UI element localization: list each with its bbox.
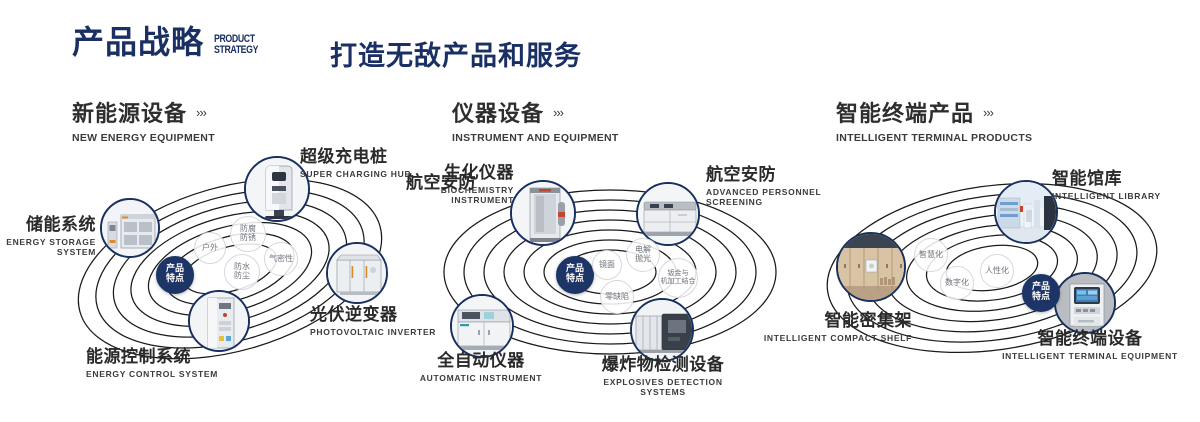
library-room-icon xyxy=(996,182,1056,242)
node-energy-control-system[interactable] xyxy=(188,290,250,352)
section-title-cn: 智能终端产品 xyxy=(836,96,974,128)
feature-bubble-humanized: 人性化 xyxy=(980,254,1014,288)
label-aviation-security-left: 航空安防 xyxy=(406,174,486,193)
section-title-en: INSTRUMENT AND EQUIPMENT xyxy=(452,132,619,144)
security-gate-icon xyxy=(512,182,574,244)
page-title-english: PRODUCT STRATEGY xyxy=(214,34,258,56)
label-explosives-detection-systems: 爆炸物检测设备 EXPLOSIVES DETECTION SYSTEMS xyxy=(580,356,746,398)
feature-label: 人性化 xyxy=(985,267,1009,276)
feature-label: 防腐 防锈 xyxy=(240,225,256,242)
feature-core-line2: 特点 xyxy=(166,275,184,285)
feature-label: 气密性 xyxy=(269,255,293,264)
node-advanced-personnel-screening[interactable] xyxy=(636,182,700,246)
feature-bubble-mirror: 镜面 xyxy=(592,250,622,280)
feature-core-bubble: 产品 特点 xyxy=(556,256,594,294)
node-automatic-instrument[interactable] xyxy=(450,294,514,358)
feature-label: 防水 防尘 xyxy=(234,263,250,280)
page-title-english-line2: STRATEGY xyxy=(214,45,258,56)
feature-core-bubble: 产品 特点 xyxy=(1022,274,1060,312)
control-cabinet-icon xyxy=(190,292,248,350)
feature-bubble-waterproof: 防水 防尘 xyxy=(224,254,260,290)
screening-machine-icon xyxy=(638,184,698,244)
auto-analyzer-icon xyxy=(452,296,512,356)
kiosk-icon xyxy=(1056,274,1114,332)
label-en: ENERGY CONTROL SYSTEM xyxy=(86,369,266,380)
poster-header: 产品战略 PRODUCT STRATEGY xyxy=(72,26,269,58)
node-intelligent-terminal-equipment[interactable] xyxy=(1054,272,1116,334)
label-energy-control-system: 能源控制系统 ENERGY CONTROL SYSTEM xyxy=(86,348,266,379)
label-en: INTELLIGENT LIBRARY xyxy=(1052,191,1200,202)
section-title-new-energy: 新能源设备 ››› NEW ENERGY EQUIPMENT xyxy=(72,96,215,144)
label-cn: 全自动仪器 xyxy=(406,352,556,371)
label-cn: 智能密集架 xyxy=(722,312,912,331)
label-cn: 能源控制系统 xyxy=(86,348,266,367)
detection-unit-icon xyxy=(632,300,692,360)
section-title-cn: 仪器设备 xyxy=(452,96,544,128)
label-cn: 智能馆库 xyxy=(1052,170,1200,189)
feature-label: 电解 抛光 xyxy=(635,246,651,263)
label-cn: 智能终端设备 xyxy=(1000,330,1180,349)
feature-bubble-electropolishing: 电解 抛光 xyxy=(626,238,660,272)
label-automatic-instrument: 全自动仪器 AUTOMATIC INSTRUMENT xyxy=(406,352,556,383)
battery-cabinet-icon xyxy=(102,200,158,256)
feature-bubble-outdoor: 户外 xyxy=(194,232,226,264)
section-title-intelligent-terminal: 智能终端产品 ››› INTELLIGENT TERMINAL PRODUCTS xyxy=(836,96,1032,144)
node-biochemistry-instrument[interactable] xyxy=(510,180,576,246)
feature-bubble-zero-defect: 零缺陷 xyxy=(600,280,634,314)
poster-canvas: 产品战略 PRODUCT STRATEGY 打造无敌产品和服务 新能源设备 ››… xyxy=(0,0,1200,422)
label-intelligent-compact-shelf: 智能密集架 INTELLIGENT COMPACT SHELF xyxy=(722,312,912,343)
feature-label: 数字化 xyxy=(945,279,969,288)
cluster-intelligent-terminal: 智能馆库 INTELLIGENT LIBRARY xyxy=(806,150,1194,380)
charging-pile-icon xyxy=(246,158,308,220)
label-intelligent-library: 智能馆库 INTELLIGENT LIBRARY xyxy=(1052,170,1200,201)
feature-label: 钣金与 机加工结合 xyxy=(661,270,696,285)
feature-core-line2: 特点 xyxy=(1032,293,1050,303)
page-subtitle: 打造无敌产品和服务 xyxy=(330,34,582,73)
section-title-cn: 新能源设备 xyxy=(72,96,187,128)
feature-bubble-airtightness: 气密性 xyxy=(264,242,298,276)
label-intelligent-terminal-equipment: 智能终端设备 INTELLIGENT TERMINAL EQUIPMENT xyxy=(1000,330,1180,361)
label-en: EXPLOSIVES DETECTION SYSTEMS xyxy=(580,377,746,398)
label-en: ENERGY STORAGE SYSTEM xyxy=(0,237,96,258)
feature-bubble-sheetmetal-machining: 钣金与 机加工结合 xyxy=(658,258,698,298)
compact-shelf-icon xyxy=(838,234,904,300)
cluster-new-energy: 储能系统 ENERGY STORAGE SYSTEM 超级充电桩 SUP xyxy=(48,150,428,380)
label-en: INTELLIGENT TERMINAL EQUIPMENT xyxy=(1000,351,1180,362)
chevron-right-icon: ››› xyxy=(553,106,563,119)
node-photovoltaic-inverter[interactable] xyxy=(326,242,388,304)
node-intelligent-library[interactable] xyxy=(994,180,1058,244)
page-title: 产品战略 xyxy=(72,26,204,58)
inverter-cabinet-icon xyxy=(328,244,386,302)
label-en: AUTOMATIC INSTRUMENT xyxy=(406,373,556,384)
feature-core-line2: 特点 xyxy=(566,275,584,285)
label-cn: 储能系统 xyxy=(0,216,96,235)
feature-bubble-digital: 数字化 xyxy=(940,266,974,300)
feature-label: 镜面 xyxy=(599,261,615,270)
chevron-right-icon: ››› xyxy=(196,106,206,119)
section-title-instrument: 仪器设备 ››› INSTRUMENT AND EQUIPMENT xyxy=(452,96,619,144)
cluster-instrument: 生化仪器 BIOCHEMISTRY INSTRUMENT 航空安防 xyxy=(414,150,806,380)
node-explosives-detection-systems[interactable] xyxy=(630,298,694,362)
feature-label: 户外 xyxy=(202,244,218,253)
chevron-right-icon: ››› xyxy=(983,106,993,119)
feature-bubble-smart: 智慧化 xyxy=(914,238,948,272)
node-intelligent-compact-shelf[interactable] xyxy=(836,232,906,302)
label-cn: 航空安防 xyxy=(406,174,486,193)
section-title-en: INTELLIGENT TERMINAL PRODUCTS xyxy=(836,132,1032,144)
node-energy-storage-system[interactable] xyxy=(100,198,160,258)
label-energy-storage-system: 储能系统 ENERGY STORAGE SYSTEM xyxy=(0,216,96,258)
feature-bubble-anticorrosion: 防腐 防锈 xyxy=(230,216,266,252)
feature-core-bubble: 产品 特点 xyxy=(156,256,194,294)
feature-label: 智慧化 xyxy=(919,251,943,260)
label-en: INTELLIGENT COMPACT SHELF xyxy=(722,333,912,344)
section-title-en: NEW ENERGY EQUIPMENT xyxy=(72,132,215,144)
feature-label: 零缺陷 xyxy=(605,293,629,302)
label-cn: 爆炸物检测设备 xyxy=(580,356,746,375)
